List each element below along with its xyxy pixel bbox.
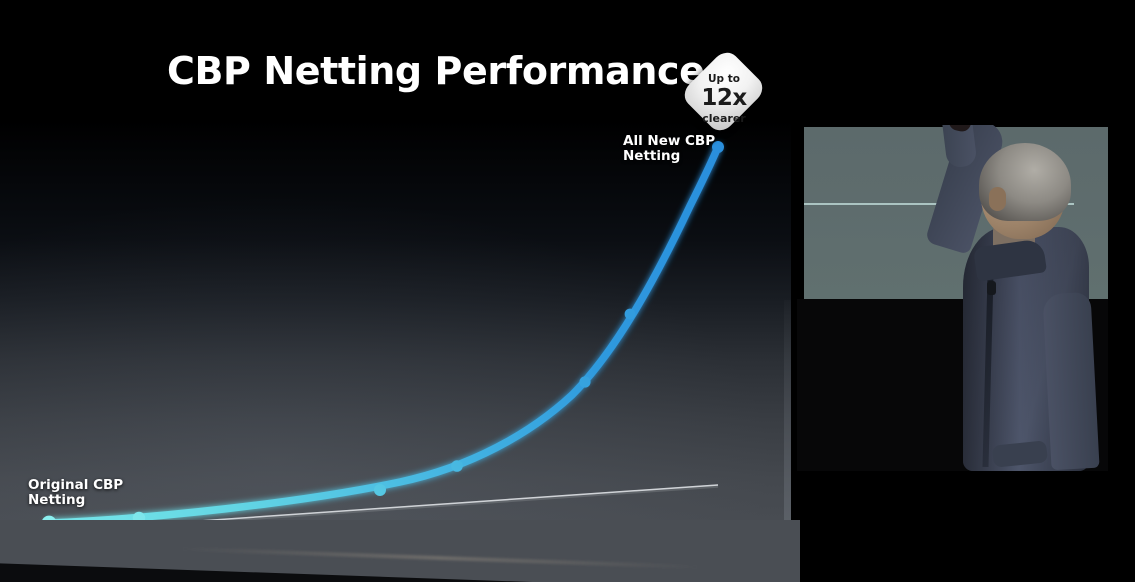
screen-right-bevel (784, 300, 791, 543)
presenter-lapel-mic (987, 281, 996, 295)
presenter-video-inset (797, 125, 1108, 471)
presentation-slide-screenshot: CBP Netting Performance (0, 0, 1135, 582)
presenter-lowered-arm (1042, 292, 1099, 470)
stage-floor (0, 520, 800, 582)
data-point (374, 484, 386, 496)
diamond-badge-shape (679, 47, 768, 136)
data-point (625, 309, 636, 320)
data-point (579, 376, 590, 387)
data-point (451, 460, 463, 472)
presentation-screen: CBP Netting Performance (0, 0, 791, 543)
presenter-ear (989, 187, 1006, 211)
performance-line-chart (0, 0, 791, 543)
series-label-original-cbp-netting: Original CBP Netting (28, 478, 123, 508)
stage-floor-highlight (180, 547, 700, 569)
status-badge: Up to 12x clearer (687, 49, 761, 149)
performance-curve (49, 147, 718, 523)
